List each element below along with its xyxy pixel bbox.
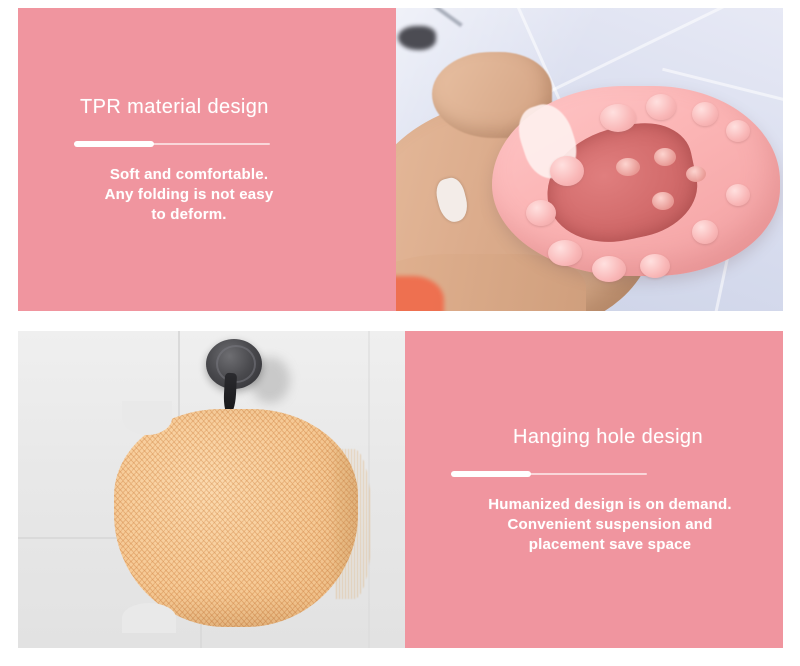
copy-panel-bottom: Hanging hole design Humanized design is …	[405, 331, 783, 648]
brush-inner-nub	[654, 148, 676, 166]
product-feature-page: TPR material design Soft and comfortable…	[0, 0, 800, 666]
brush-nub	[692, 220, 718, 244]
brush-nub	[726, 120, 750, 142]
brush-nub	[592, 256, 626, 282]
feature-section-tpr-material: TPR material design Soft and comfortable…	[18, 8, 783, 311]
brush-nub	[526, 200, 556, 226]
background-object-dark	[398, 26, 436, 50]
divider-thick-segment	[451, 471, 531, 477]
brush-nub	[548, 240, 582, 266]
brush-nub	[646, 94, 676, 120]
body-line: Humanized design is on demand.	[427, 495, 783, 515]
divider-bottom	[451, 469, 647, 479]
brush-hanging-notch	[122, 401, 172, 435]
brush-nub	[640, 254, 670, 278]
copy-panel-top: TPR material design Soft and comfortable…	[18, 8, 396, 311]
brush-bottom-notch	[122, 603, 176, 633]
photo-hand-squeezing-brush	[396, 8, 783, 311]
brush-inner-nub	[616, 158, 640, 176]
body-line: to deform.	[68, 205, 310, 225]
body-line: placement save space	[427, 535, 783, 555]
divider-thick-segment	[74, 141, 154, 147]
brush-pad-clip	[114, 409, 358, 627]
divider-top	[74, 139, 270, 149]
body-line: Any folding is not easy	[68, 185, 310, 205]
body-copy-top: Soft and comfortable. Any folding is not…	[68, 165, 310, 225]
brush-bristle-texture	[114, 409, 358, 627]
body-line: Convenient suspension and	[427, 515, 783, 535]
brush-nub	[726, 184, 750, 206]
brush-nub	[600, 104, 636, 132]
body-line: Soft and comfortable.	[68, 165, 310, 185]
brush-inner-nub	[686, 166, 706, 182]
body-copy-bottom: Humanized design is on demand. Convenien…	[427, 495, 783, 555]
headline-tpr-material: TPR material design	[80, 95, 370, 119]
feature-section-hanging-hole: Hanging hole design Humanized design is …	[18, 331, 783, 648]
brush-inner-nub	[652, 192, 674, 210]
brush-nub	[692, 102, 718, 126]
headline-hanging-hole: Hanging hole design	[513, 425, 757, 449]
brush-nub	[550, 156, 584, 186]
brush-edge-bristles	[336, 449, 372, 599]
photo-brush-on-hook	[18, 331, 405, 648]
